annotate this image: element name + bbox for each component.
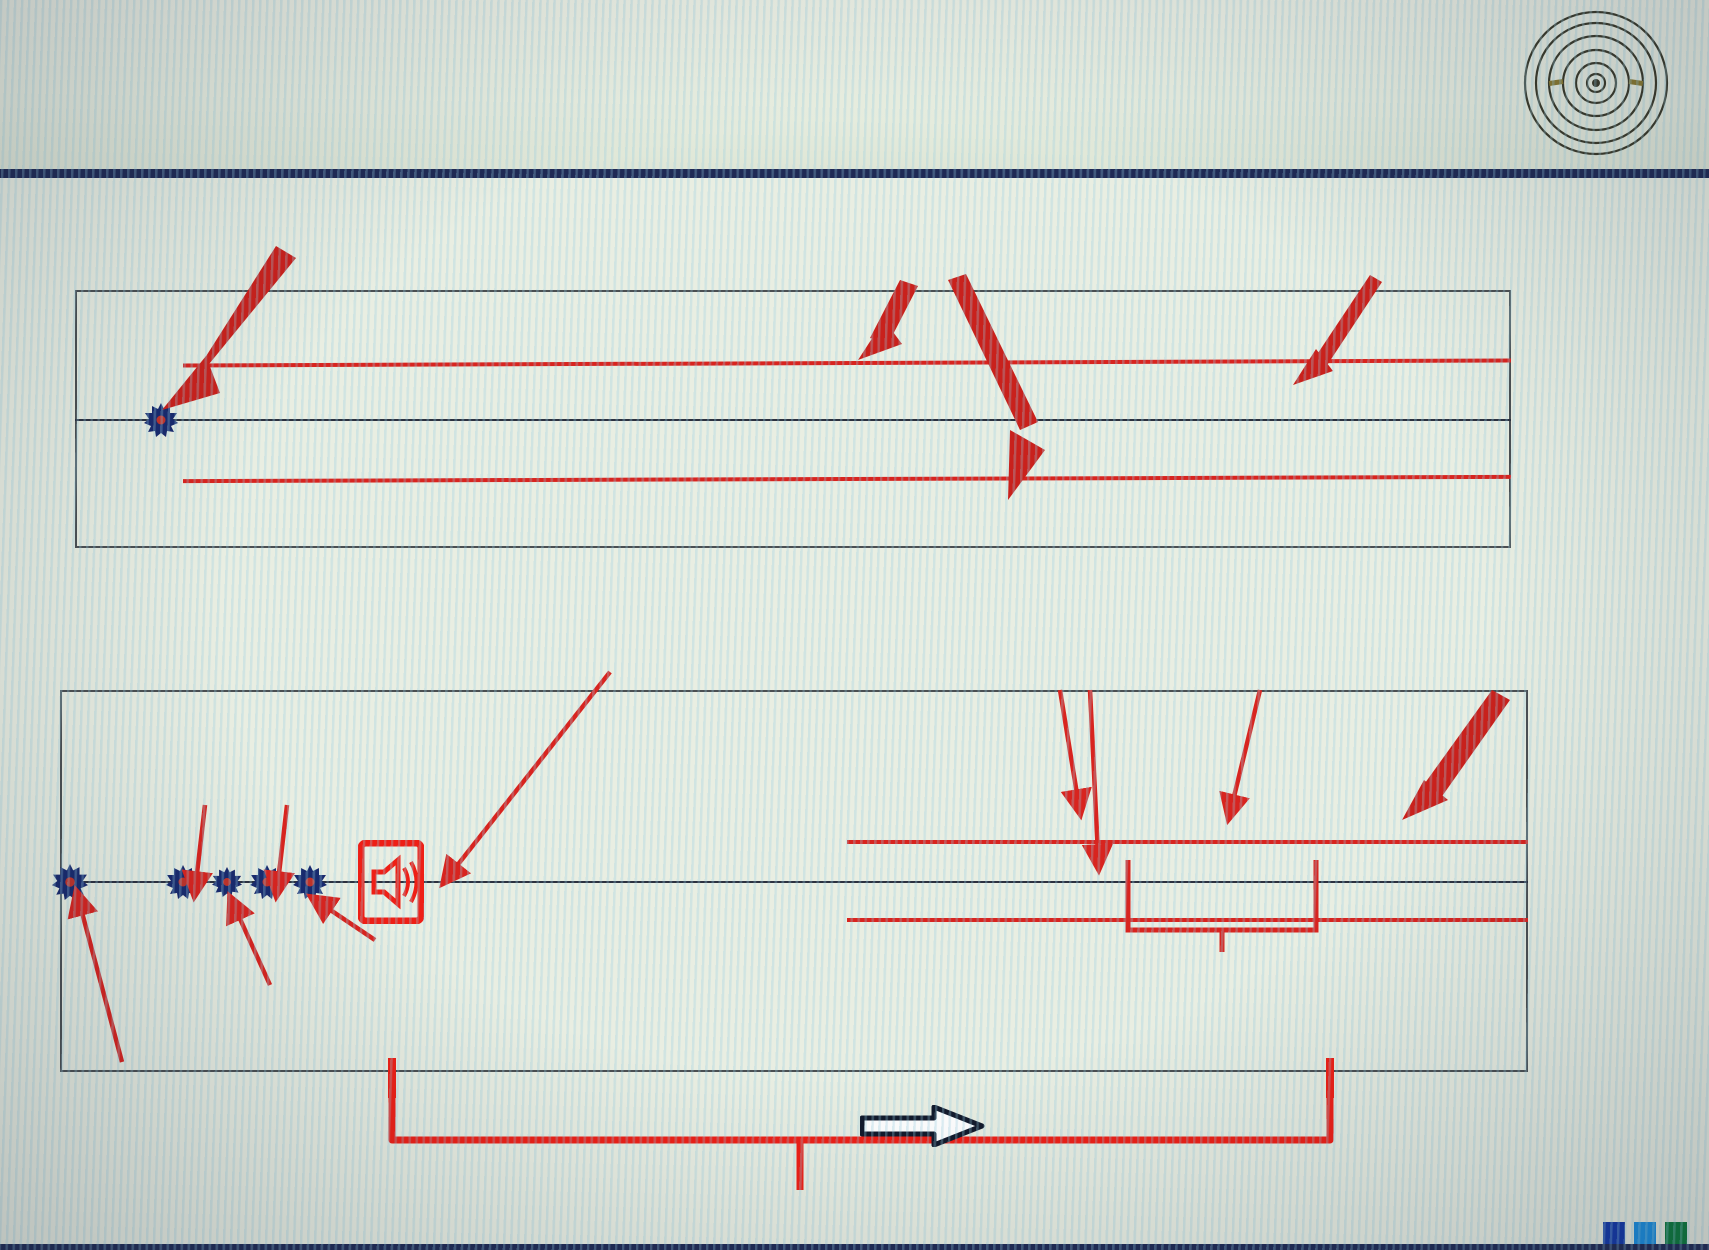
start-of-earthquake-marker <box>52 864 88 900</box>
regional-warning-speaker-icon <box>358 840 424 924</box>
top-chart-upper-threshold <box>183 358 1511 367</box>
third-station-marker <box>250 865 284 899</box>
fourth-station-marker <box>293 865 327 899</box>
top-chart-axis-bottom <box>75 546 1511 548</box>
slide-root <box>0 0 1709 1250</box>
bottom-chart-lower-threshold <box>847 918 1528 922</box>
footer-rule <box>0 1244 1709 1250</box>
top-chart <box>75 290 1511 548</box>
second-station-marker <box>212 867 242 897</box>
first-station-marker <box>166 865 200 899</box>
top-chart-axis-top <box>75 290 1511 292</box>
iit-roorkee-brand <box>1594 1222 1687 1244</box>
time-direction-arrow-icon <box>860 1105 985 1147</box>
bottom-chart <box>60 690 1528 1072</box>
bottom-chart-upper-threshold <box>847 840 1528 844</box>
brand-square-2 <box>1634 1222 1656 1244</box>
bottom-chart-axis-bottom <box>60 1070 1528 1072</box>
iit-roorkee-emblem-icon <box>1521 8 1671 158</box>
brand-square-3 <box>1665 1222 1687 1244</box>
shaking-start-marker <box>144 403 178 437</box>
slide-header <box>0 0 1709 178</box>
brand-square-1 <box>1603 1222 1625 1244</box>
top-chart-zero-line <box>75 419 1511 421</box>
top-chart-lower-threshold <box>183 475 1511 483</box>
bottom-chart-axis-top <box>60 690 1528 692</box>
